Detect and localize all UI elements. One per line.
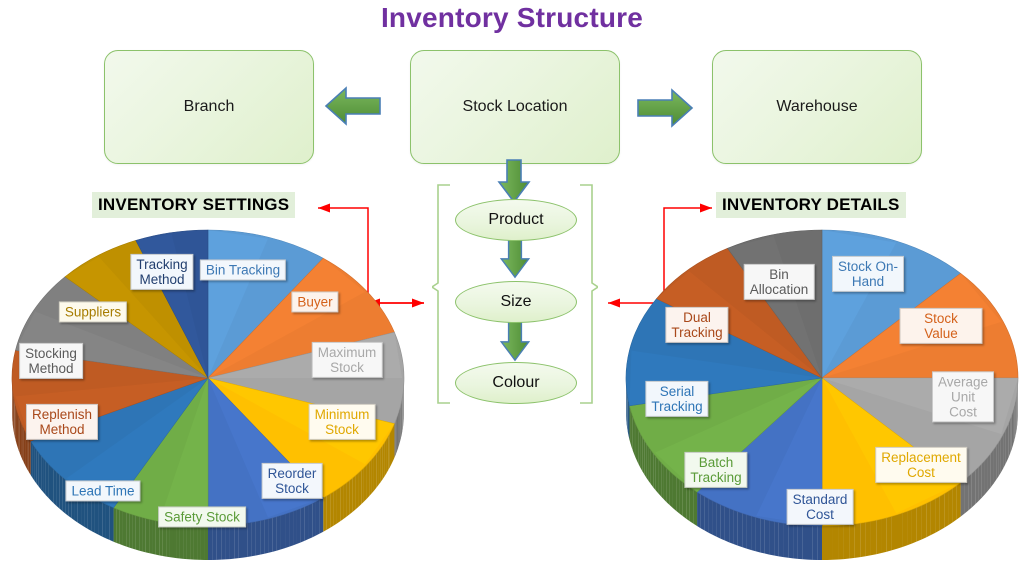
pie-label-batch-tracking-label[interactable]: Batch Tracking — [684, 452, 747, 488]
pie-label-minimum-stock-label[interactable]: Minimum Stock — [309, 404, 376, 440]
pie-label-maximum-stock-label[interactable]: Maximum Stock — [312, 342, 383, 378]
pie-label-stock-on-hand-label[interactable]: Stock On- Hand — [832, 256, 904, 292]
pie-label-stock-value-label[interactable]: Stock Value — [900, 308, 983, 344]
pie-label-reorder-stock-label[interactable]: Reorder Stock — [262, 463, 323, 499]
pie-label-lead-time-label[interactable]: Lead Time — [65, 480, 140, 501]
pie-label-dual-tracking-label[interactable]: Dual Tracking — [665, 307, 728, 343]
diagram-canvas: Inventory Structure Branch Stock Locatio… — [0, 0, 1024, 570]
pie-label-replacement-cost-label[interactable]: Replacement Cost — [875, 447, 967, 483]
pie-label-standard-cost-label[interactable]: Standard Cost — [787, 489, 854, 525]
pie-label-stocking-method-label[interactable]: Stocking Method — [19, 343, 83, 379]
pie-label-serial-tracking-label[interactable]: Serial Tracking — [645, 381, 708, 417]
pie-label-bin-allocation-label[interactable]: Bin Allocation — [744, 264, 815, 300]
pie-label-tracking-method-label[interactable]: Tracking Method — [130, 254, 193, 290]
pie-label-bin-tracking-label[interactable]: Bin Tracking — [200, 259, 286, 280]
pie-label-buyer-label[interactable]: Buyer — [291, 291, 338, 312]
pie-label-replenish-method-label[interactable]: Replenish Method — [26, 404, 98, 440]
pie-label-safety-stock-label[interactable]: Safety Stock — [158, 506, 246, 527]
pie-label-average-unit-cost-label[interactable]: Average Unit Cost — [932, 371, 994, 422]
pie-label-suppliers-label[interactable]: Suppliers — [59, 301, 127, 322]
